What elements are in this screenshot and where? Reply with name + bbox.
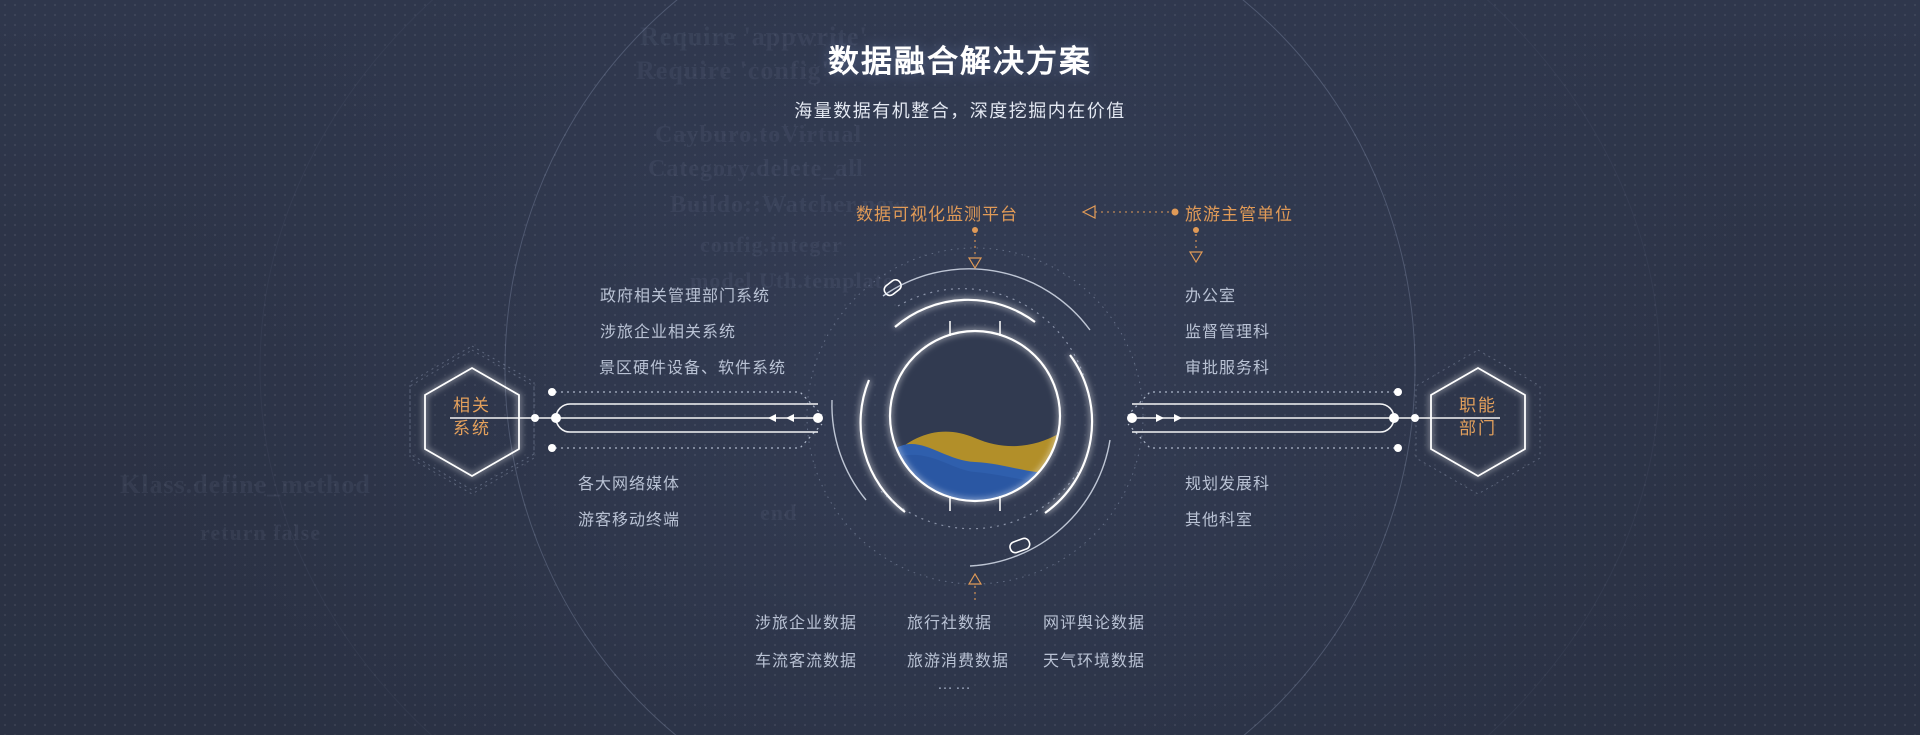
core-label-line1: 数据融合: [925, 381, 1025, 411]
bottom-ellipsis: ……: [937, 676, 973, 694]
right-lower-item-1[interactable]: 其他科室: [1185, 506, 1253, 530]
authority-down-arrow: [1190, 227, 1202, 262]
bottom-item-r2c2[interactable]: 天气环境数据: [1043, 647, 1145, 671]
bottom-item-r2c0[interactable]: 车流客流数据: [755, 647, 857, 671]
right-lower-item-0[interactable]: 规划发展科: [1185, 470, 1270, 494]
left-hexagon-label[interactable]: 相关 系统: [453, 395, 491, 441]
page-header: 数据融合解决方案 海量数据有机整合，深度挖掘内在价值: [0, 36, 1920, 123]
bottom-item-r1c1[interactable]: 旅行社数据: [907, 609, 992, 633]
left-item-0[interactable]: 政府相关管理部门系统: [600, 282, 770, 306]
page-content: 数据融合解决方案 海量数据有机整合，深度挖掘内在价值: [0, 0, 1920, 735]
left-lower-item-1[interactable]: 游客移动终端: [578, 506, 680, 530]
right-item-1[interactable]: 监督管理科: [1185, 318, 1270, 342]
bottom-item-r2c1[interactable]: 旅游消费数据: [907, 647, 1009, 671]
left-connector: [450, 388, 823, 452]
right-hexagon-label-line2: 部门: [1459, 418, 1497, 441]
platform-down-arrow: [969, 227, 981, 268]
page-title: 数据融合解决方案: [0, 36, 1920, 81]
left-item-2[interactable]: 景区硬件设备、软件系统: [599, 354, 786, 378]
bottom-item-r1c0[interactable]: 涉旅企业数据: [755, 609, 857, 633]
bottom-item-r1c2[interactable]: 网评舆论数据: [1043, 609, 1145, 633]
core-label-line2: 共享中心: [925, 417, 1025, 447]
top-horizontal-connector: [1083, 206, 1179, 218]
authority-label[interactable]: 旅游主管单位: [1185, 200, 1293, 225]
left-item-1[interactable]: 涉旅企业相关系统: [600, 318, 736, 342]
bottom-up-arrow: [969, 574, 981, 604]
page-subtitle: 海量数据有机整合，深度挖掘内在价值: [0, 97, 1920, 123]
right-hexagon-label-line1: 职能: [1459, 395, 1497, 418]
left-hexagon-label-line2: 系统: [453, 418, 491, 441]
right-hexagon-label[interactable]: 职能 部门: [1459, 395, 1497, 441]
right-connector: [1127, 388, 1500, 452]
platform-label[interactable]: 数据可视化监测平台: [856, 200, 1018, 225]
left-lower-item-0[interactable]: 各大网络媒体: [578, 470, 680, 494]
right-item-0[interactable]: 办公室: [1185, 282, 1236, 306]
right-item-2[interactable]: 审批服务科: [1185, 354, 1270, 378]
core-label: 数据融合 共享中心: [925, 381, 1025, 447]
left-hexagon-label-line1: 相关: [453, 395, 491, 418]
